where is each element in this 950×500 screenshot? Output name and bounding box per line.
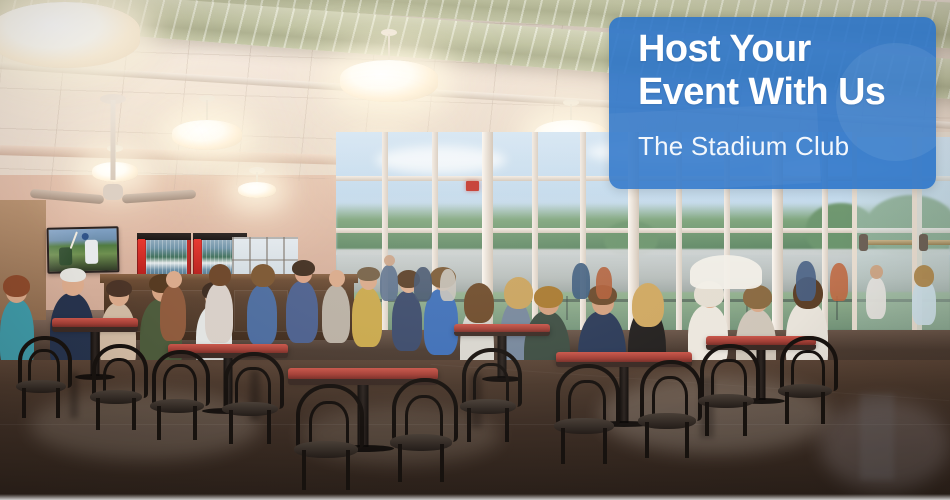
headline-line-1: Host Your xyxy=(638,28,920,71)
person xyxy=(286,281,318,343)
chair xyxy=(296,384,356,490)
person-head xyxy=(166,271,182,288)
person xyxy=(830,263,848,301)
person xyxy=(380,265,398,301)
person xyxy=(414,267,432,301)
person xyxy=(352,287,382,347)
promo-headline: Host Your Event With Us xyxy=(638,28,920,114)
person xyxy=(572,263,590,299)
person xyxy=(440,269,456,301)
chair xyxy=(152,350,202,440)
chair xyxy=(92,344,140,430)
person xyxy=(866,277,886,319)
person xyxy=(160,285,186,341)
promo-overlay-card: Host Your Event With Us The Stadium Club xyxy=(609,17,936,189)
exit-sign xyxy=(466,181,479,191)
dining-table xyxy=(52,318,138,328)
chair xyxy=(18,336,64,418)
ceiling-fan xyxy=(38,176,188,212)
person xyxy=(796,261,816,301)
patio-umbrella xyxy=(690,255,762,289)
promo-banner: Host Your Event With Us The Stadium Club xyxy=(0,0,950,500)
chair xyxy=(640,360,694,458)
dining-table xyxy=(454,324,550,333)
person xyxy=(247,285,277,345)
chair xyxy=(224,352,276,444)
bottom-edge xyxy=(0,494,950,500)
chair xyxy=(462,348,514,442)
chair xyxy=(700,344,752,436)
headline-line-2: Event With Us xyxy=(638,71,920,114)
promo-subtitle: The Stadium Club xyxy=(638,131,920,161)
chair xyxy=(780,336,830,424)
person xyxy=(596,267,612,299)
chair xyxy=(392,378,450,482)
person-head xyxy=(329,270,345,287)
chair xyxy=(556,364,612,464)
person xyxy=(205,283,233,343)
person xyxy=(322,285,350,343)
